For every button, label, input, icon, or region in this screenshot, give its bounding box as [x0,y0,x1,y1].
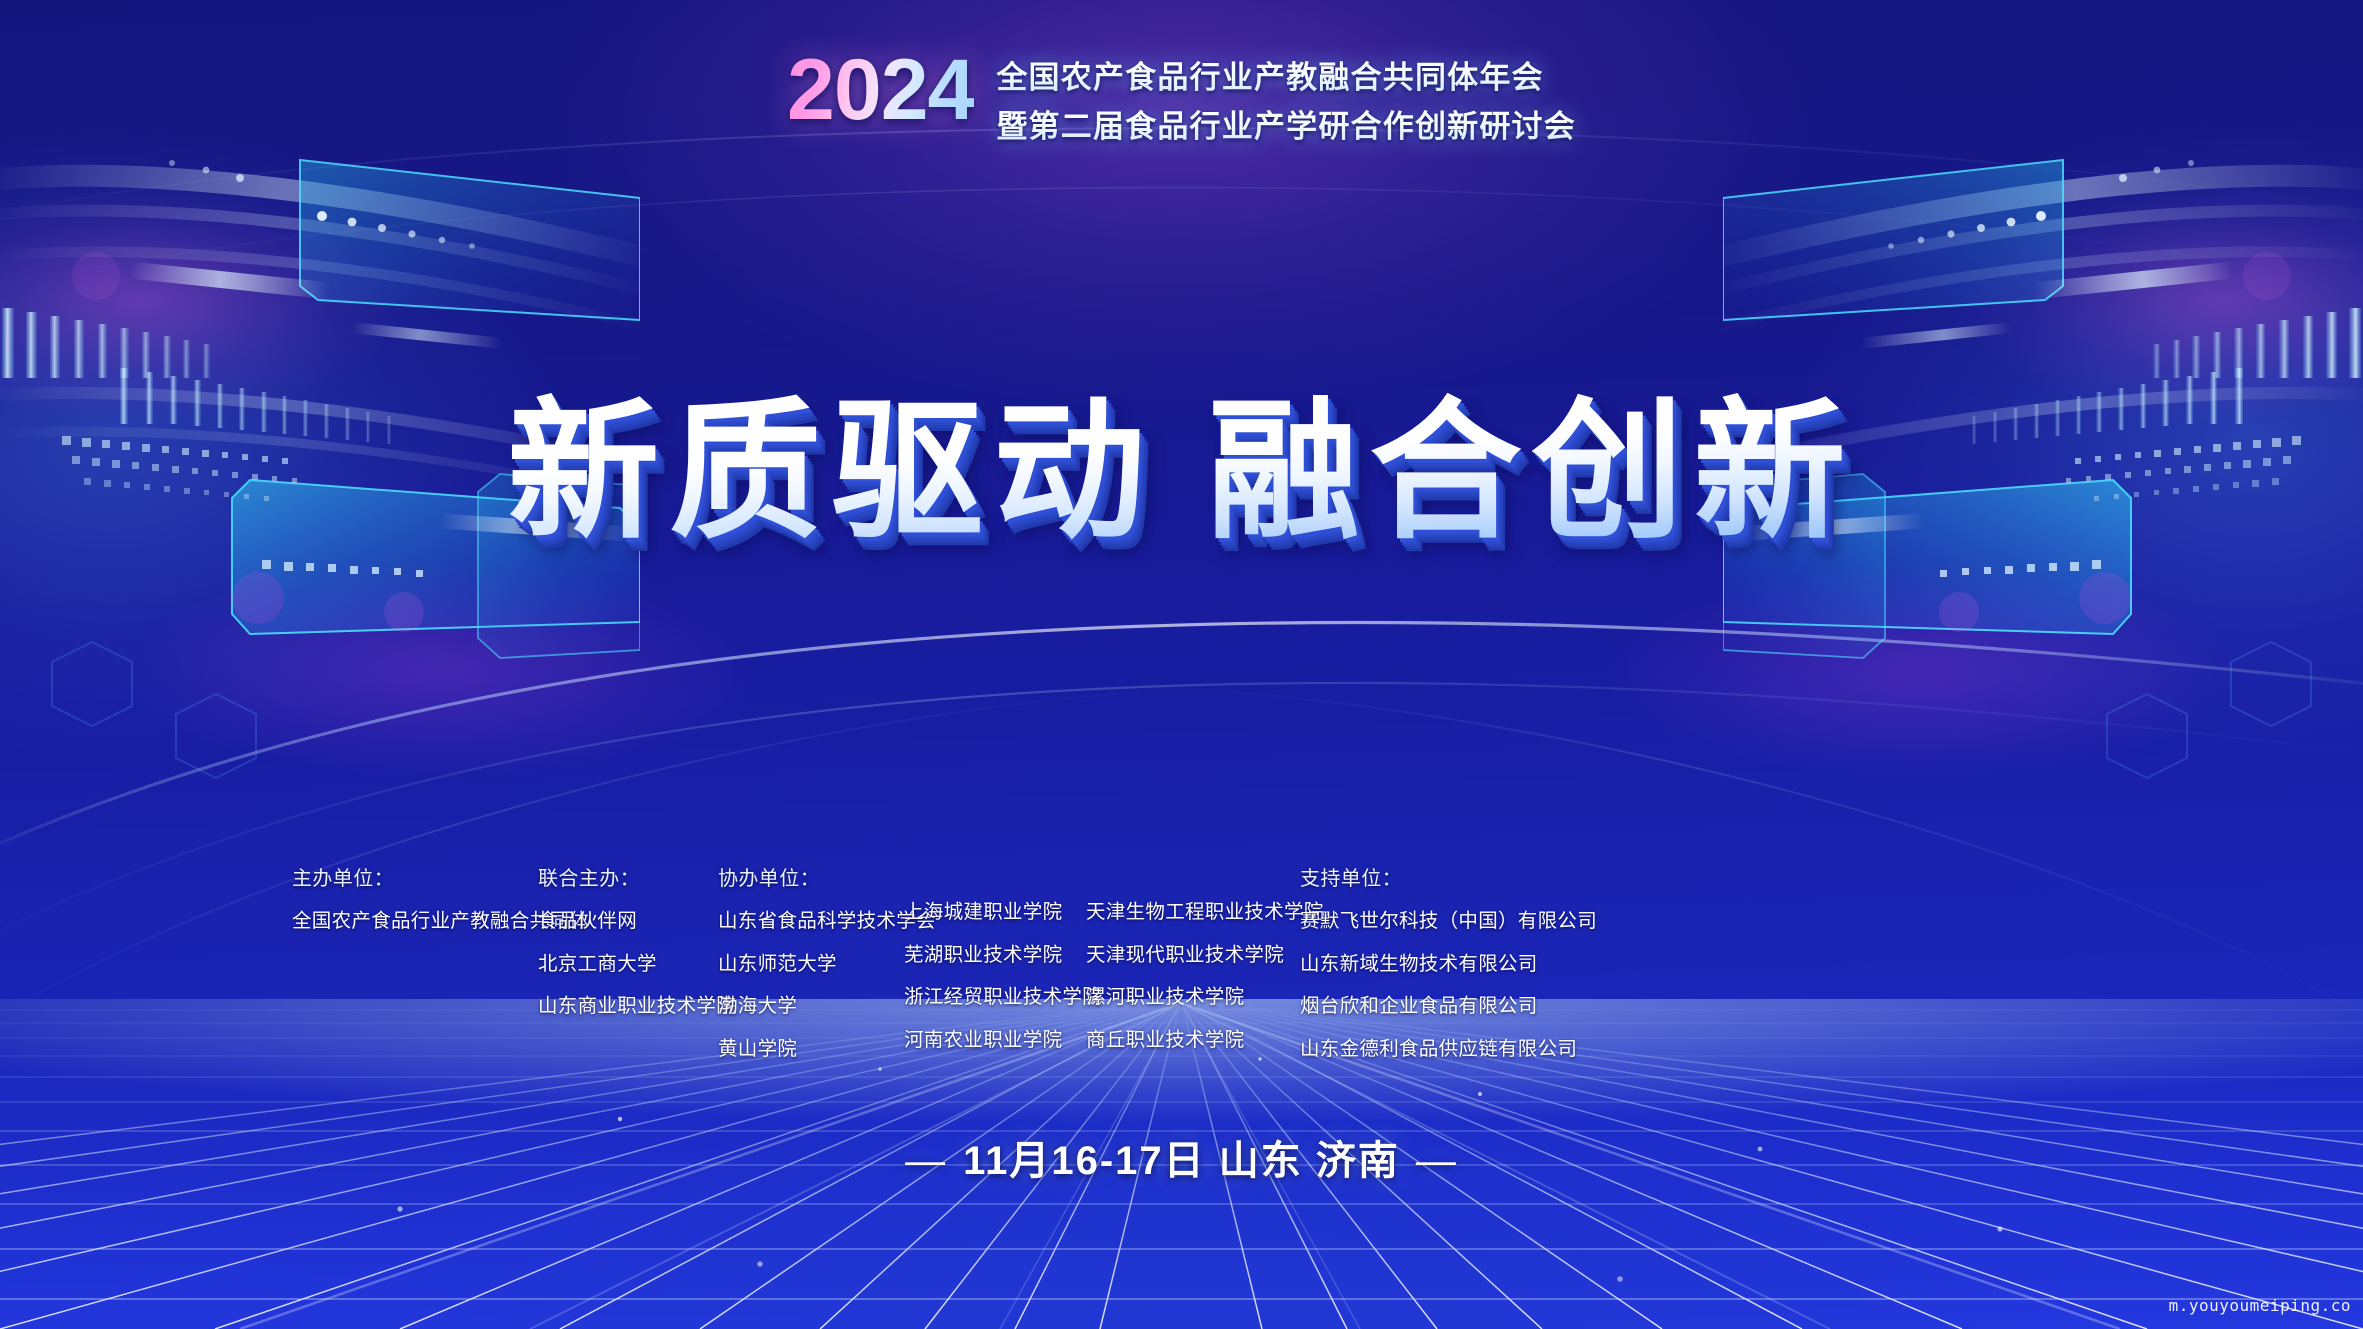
date-location-line: —11月16-17日 山东 济南— [0,1128,2363,1186]
main-title-wrap: 新质驱动 融合创新 新质驱动 融合创新 [0,392,2363,553]
organizer-heading-spacer [1086,862,1300,903]
organizer-item: 芜湖职业技术学院 [904,946,1086,966]
organizer-column-support-c: 天津生物工程职业技术学院 天津现代职业技术学院 漯河职业技术学院 商丘职业技术学… [1086,862,1300,1082]
organizer-item: 天津生物工程职业技术学院 [1086,903,1300,923]
organizer-item: 天津现代职业技术学院 [1086,946,1300,966]
glow-left-mid [120,560,760,780]
poster-header: 2024 全国农产食品行业产教融合共同体年会 暨第二届食品行业产学研合作创新研讨… [0,46,2363,146]
organizer-item: 上海城建职业学院 [904,903,1086,923]
dash-right: — [1400,1139,1474,1184]
organizer-heading: 联合主办： [538,862,718,891]
organizer-item: 山东省食品科学技术学会 [718,912,904,932]
organizer-item: 商丘职业技术学院 [1086,1031,1300,1051]
organizer-item: 山东师范大学 [718,955,904,975]
organizer-column-support-b: 上海城建职业学院 芜湖职业技术学院 浙江经贸职业技术学院 河南农业职业学院 [904,862,1086,1082]
glow-right-magenta [1963,180,2363,420]
site-watermark: m.youyoumeiping.co [2169,1296,2351,1315]
conference-poster: 2024 全国农产食品行业产教融合共同体年会 暨第二届食品行业产学研合作创新研讨… [0,0,2363,1329]
main-title-face: 新质驱动 融合创新 [507,387,1855,557]
dash-left: — [889,1139,963,1184]
organizer-heading-spacer [904,862,1086,903]
organizer-column-co-host: 联合主办： 食品伙伴网 北京工商大学 山东商业职业技术学院 [538,862,718,1082]
organizer-item: 山东商业职业技术学院 [538,997,718,1017]
organizer-column-sponsors: 支持单位： 赛默飞世尔科技（中国）有限公司 山东新域生物技术有限公司 烟台欣和企… [1300,862,2082,1082]
organizer-item: 山东新域生物技术有限公司 [1300,955,2082,975]
organizer-heading: 协办单位： [718,862,904,891]
organizer-item: 漯河职业技术学院 [1086,988,1300,1008]
organizer-item: 北京工商大学 [538,955,718,975]
organizer-item: 渤海大学 [718,997,904,1017]
organizer-item: 山东金德利食品供应链有限公司 [1300,1040,2082,1060]
organizer-heading: 主办单位： [292,862,538,891]
organizer-item: 浙江经贸职业技术学院 [904,988,1086,1008]
organizers-section: 主办单位： 全国农产食品行业产教融合共同体 联合主办： 食品伙伴网 北京工商大学… [292,862,2082,1082]
header-subtitle-lines: 全国农产食品行业产教融合共同体年会 暨第二届食品行业产学研合作创新研讨会 [996,46,1576,146]
organizer-item: 食品伙伴网 [538,912,718,932]
organizer-item: 黄山学院 [718,1040,904,1060]
organizer-column-support-a: 协办单位： 山东省食品科学技术学会 山东师范大学 渤海大学 黄山学院 [718,862,904,1082]
organizer-heading: 支持单位： [1300,862,2082,891]
organizer-column-host: 主办单位： 全国农产食品行业产教融合共同体 [292,862,538,1082]
organizer-item: 全国农产食品行业产教融合共同体 [292,912,538,932]
header-line-2: 暨第二届食品行业产学研合作创新研讨会 [996,101,1576,146]
event-year: 2024 [787,46,974,132]
glow-left-magenta [0,180,400,420]
glow-right-mid [1603,560,2243,780]
organizer-item: 烟台欣和企业食品有限公司 [1300,997,2082,1017]
organizer-item: 河南农业职业学院 [904,1031,1086,1051]
date-location-text: 11月16-17日 山东 济南 [963,1139,1400,1183]
organizer-item: 赛默飞世尔科技（中国）有限公司 [1300,912,2082,932]
header-line-1: 全国农产食品行业产教融合共同体年会 [996,52,1576,97]
main-title: 新质驱动 融合创新 新质驱动 融合创新 [507,392,1855,553]
